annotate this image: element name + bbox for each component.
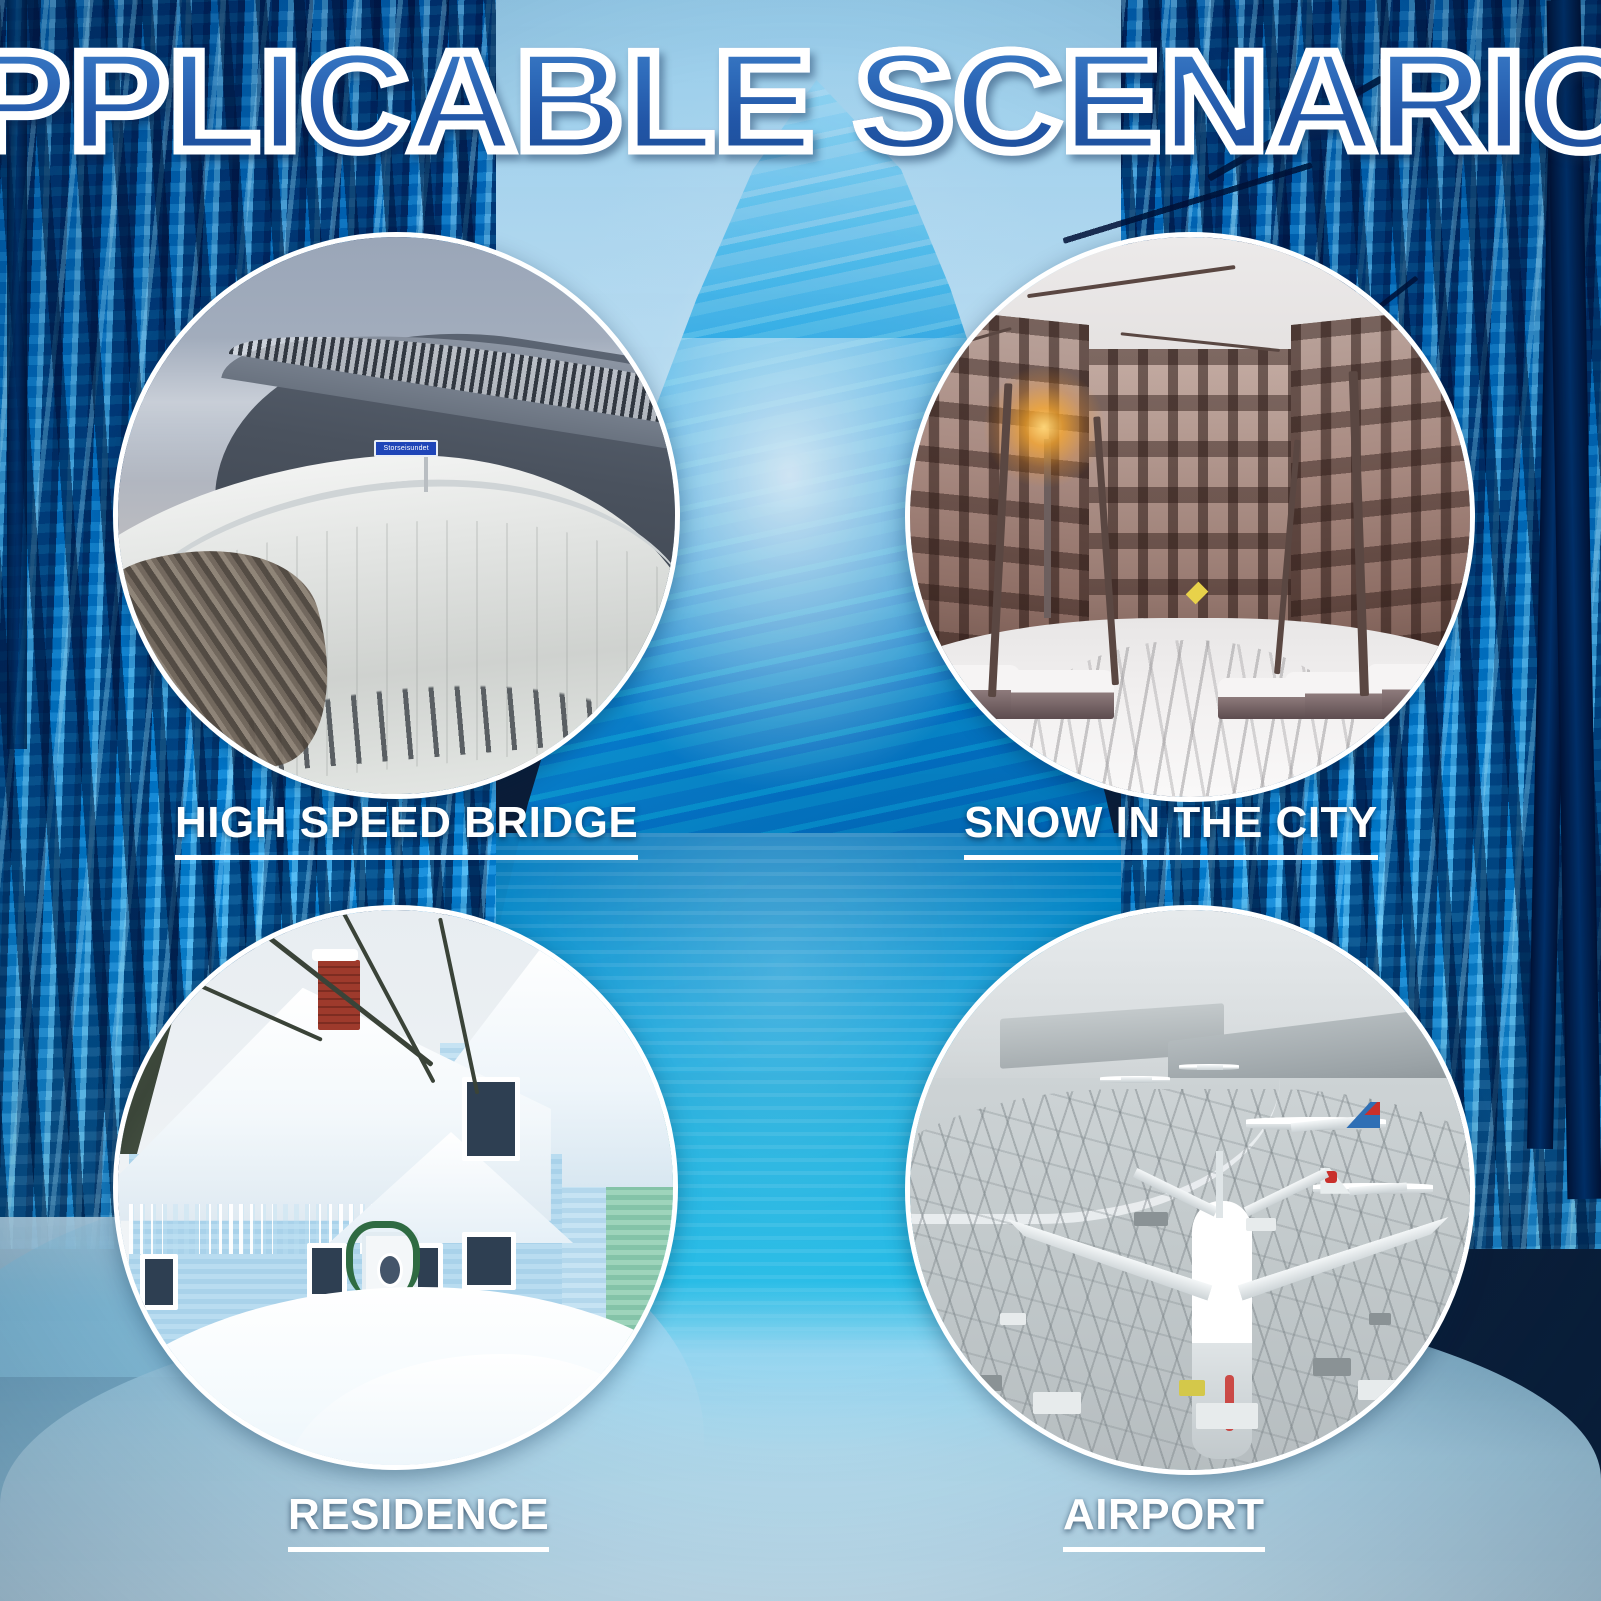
ground-vehicle bbox=[1358, 1380, 1402, 1400]
caption-airport: AIRPORT bbox=[1063, 1492, 1265, 1552]
ground-vehicle bbox=[972, 1375, 1002, 1391]
ground-vehicle bbox=[1313, 1358, 1351, 1376]
page-title: APPLICABLE SCENARIOS bbox=[0, 31, 1601, 173]
caption-high-speed-bridge: HIGH SPEED BRIDGE bbox=[175, 800, 638, 860]
ground-vehicle bbox=[1000, 1313, 1026, 1325]
city-photo bbox=[910, 237, 1470, 797]
ground-vehicle bbox=[1246, 1218, 1276, 1231]
tree-trunk-icon bbox=[1274, 439, 1300, 674]
ground-vehicle bbox=[1134, 1212, 1168, 1226]
parked-aircraft bbox=[1179, 1056, 1239, 1072]
scenario-photo-high-speed-bridge: Storseisundet bbox=[113, 232, 680, 799]
scenario-photo-snow-in-the-city bbox=[905, 232, 1475, 802]
road-sign: Storseisundet bbox=[374, 440, 438, 457]
aircraft-wing bbox=[1121, 1077, 1152, 1082]
title-area: APPLICABLE SCENARIOS bbox=[0, 22, 1601, 182]
tree-branch-icon bbox=[910, 237, 1078, 252]
ground-vehicle bbox=[1033, 1392, 1081, 1414]
aircraft-tail-fin bbox=[1216, 1151, 1223, 1218]
airport-photo bbox=[910, 910, 1470, 1470]
house-window bbox=[462, 1232, 516, 1290]
parked-aircraft bbox=[1100, 1067, 1170, 1085]
applicable-scenarios-poster: APPLICABLE SCENARIOS Storseisundet bbox=[0, 0, 1601, 1601]
tree-branch-icon bbox=[1120, 332, 1279, 352]
bare-trees bbox=[910, 237, 1470, 797]
chimney-snow-cap bbox=[312, 949, 358, 961]
house-window bbox=[307, 1243, 347, 1299]
scenario-photo-residence bbox=[113, 905, 678, 1470]
tree-branch-icon bbox=[910, 327, 1012, 371]
tree-branch-icon bbox=[1027, 265, 1236, 298]
tree-trunk-icon bbox=[1093, 417, 1119, 686]
aircraft-wing bbox=[1197, 1065, 1223, 1070]
road-sign-post bbox=[424, 454, 428, 492]
tree-branch-icon bbox=[1206, 237, 1358, 257]
house-window bbox=[140, 1254, 178, 1310]
bridge-photo: Storseisundet bbox=[118, 237, 675, 794]
ground-vehicle bbox=[1179, 1380, 1205, 1396]
ground-vehicle bbox=[1369, 1313, 1391, 1325]
caption-residence: RESIDENCE bbox=[288, 1492, 549, 1552]
tree-trunk-icon bbox=[988, 383, 1012, 697]
ground-vehicle bbox=[1196, 1403, 1258, 1429]
tree-branch-icon bbox=[910, 259, 945, 323]
caption-snow-in-the-city: SNOW IN THE CITY bbox=[964, 800, 1378, 860]
scenario-photo-airport bbox=[905, 905, 1475, 1475]
house-window bbox=[462, 1077, 520, 1161]
parked-aircraft bbox=[1246, 1095, 1386, 1135]
residence-photo bbox=[118, 910, 673, 1465]
tree-trunk-icon bbox=[1349, 371, 1369, 696]
